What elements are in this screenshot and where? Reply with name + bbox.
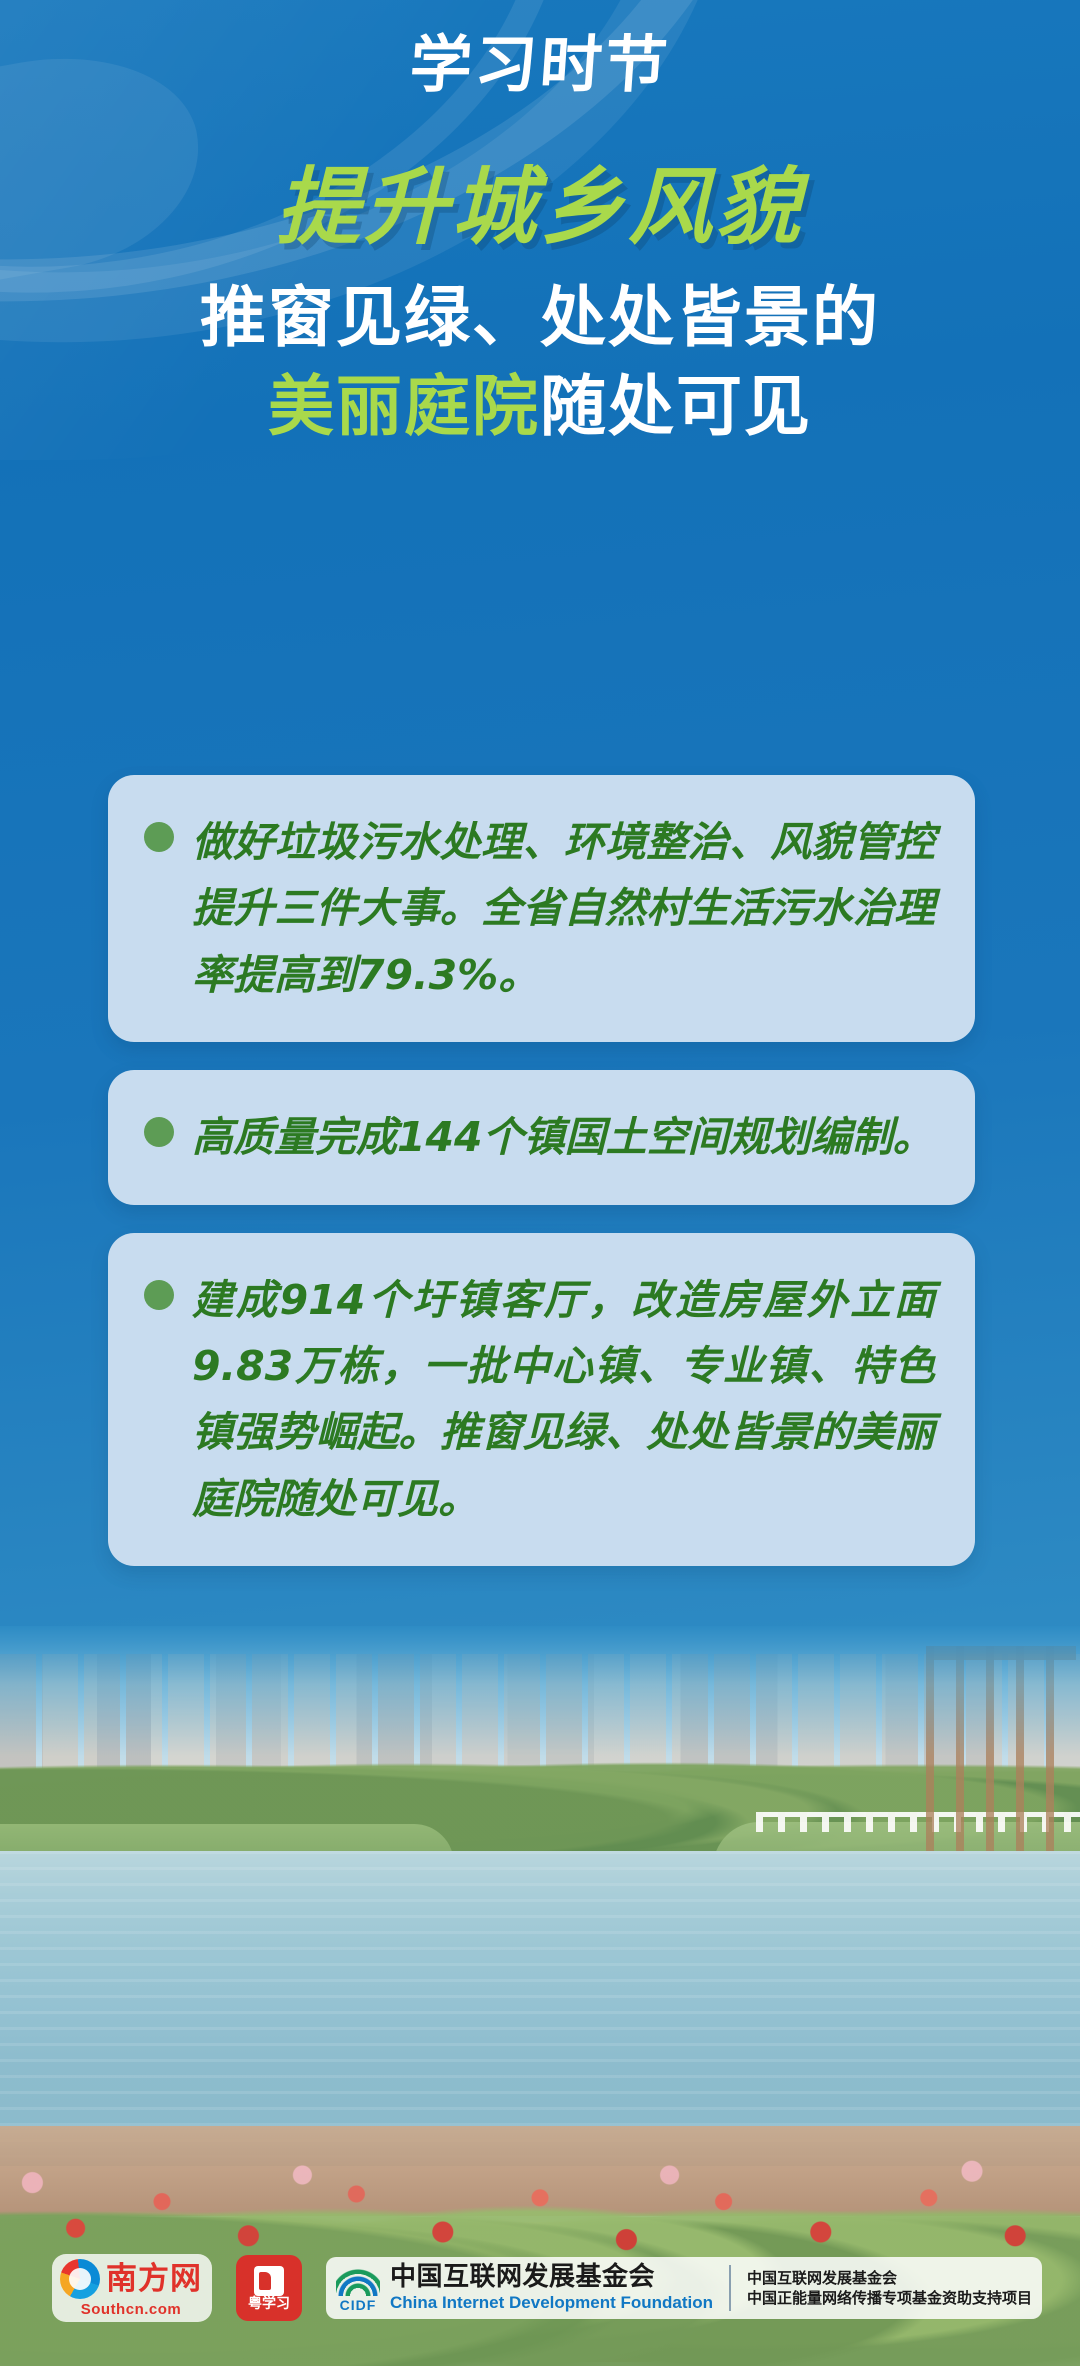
subtitle-line-2-text: 随处可见: [540, 368, 812, 445]
bullet-dot-icon: [144, 1280, 174, 1310]
page-title: 提升城乡风貌: [34, 160, 1046, 254]
cidf-wave-icon: [336, 2264, 380, 2296]
cidf-logo[interactable]: CIDF 中国互联网发展基金会 China Internet Developme…: [326, 2257, 1042, 2318]
cidf-name-en: China Internet Development Foundation: [390, 2293, 713, 2313]
cidf-names: 中国互联网发展基金会 China Internet Development Fo…: [390, 2263, 713, 2312]
content-card-text: 建成914个圩镇客厅，改造房屋外立面9.83万栋，一批中心镇、专业镇、特色镇强势…: [192, 1267, 935, 1533]
southcn-globe-icon: [60, 2259, 100, 2299]
cidf-name-cn: 中国互联网发展基金会: [390, 2263, 713, 2293]
cidf-abbreviation: CIDF: [340, 2297, 377, 2313]
poster-root: 学习时节 提升城乡风貌 推窗见绿、处处皆景的 美丽庭院随处可见 做好垃圾污水处理…: [0, 0, 1080, 2366]
brand-logo: 学习时节: [0, 34, 1080, 96]
subtitle-line-1: 推窗见绿、处处皆景的: [34, 274, 1046, 362]
brand-logo-text: 学习时节: [408, 34, 672, 96]
southcn-name-en: Southcn.com: [81, 2301, 182, 2318]
cidf-support-note: 中国互联网发展基金会 中国正能量网络传播专项基金资助支持项目: [747, 2268, 1032, 2309]
cidf-note-line-2: 中国正能量网络传播专项基金资助支持项目: [747, 2288, 1032, 2308]
southcn-name-cn: 南方网: [106, 2264, 202, 2295]
bullet-dot-icon: [144, 1117, 174, 1147]
headline-block: 提升城乡风貌 推窗见绿、处处皆景的 美丽庭院随处可见: [0, 160, 1080, 451]
content-card-text: 高质量完成144个镇国土空间规划编制。: [192, 1104, 934, 1170]
footer-divider: [729, 2265, 731, 2311]
yuexuexi-mark-icon: [254, 2266, 284, 2296]
southcn-logo-row: 南方网: [60, 2259, 202, 2299]
cidf-mark: CIDF: [336, 2264, 380, 2313]
cidf-note-line-1: 中国互联网发展基金会: [747, 2268, 1032, 2288]
content-card: 做好垃圾污水处理、环境整治、风貌管控提升三件大事。全省自然村生活污水治理率提高到…: [108, 775, 975, 1042]
content-card-list: 做好垃圾污水处理、环境整治、风貌管控提升三件大事。全省自然村生活污水治理率提高到…: [0, 775, 1080, 1594]
subtitle-accent-text: 美丽庭院: [268, 368, 540, 445]
southcn-logo[interactable]: 南方网 Southcn.com: [52, 2254, 212, 2322]
subtitle-line-1-text: 推窗见绿、处处皆景的: [200, 279, 880, 356]
content-card: 高质量完成144个镇国土空间规划编制。: [108, 1070, 975, 1204]
content-card-text: 做好垃圾污水处理、环境整治、风貌管控提升三件大事。全省自然村生活污水治理率提高到…: [192, 809, 935, 1008]
yuexuexi-label: 粤学习: [248, 2297, 290, 2311]
yuexuexi-logo[interactable]: 粤学习: [236, 2255, 302, 2321]
bullet-dot-icon: [144, 822, 174, 852]
subtitle-line-2: 美丽庭院随处可见: [34, 363, 1046, 451]
footer-logo-strip: 南方网 Southcn.com 粤学习 CIDF 中国互联网发展基金会 Chin…: [0, 2242, 1080, 2334]
content-card: 建成914个圩镇客厅，改造房屋外立面9.83万栋，一批中心镇、专业镇、特色镇强势…: [108, 1233, 975, 1567]
scene-top-fade: [0, 1626, 1080, 1756]
